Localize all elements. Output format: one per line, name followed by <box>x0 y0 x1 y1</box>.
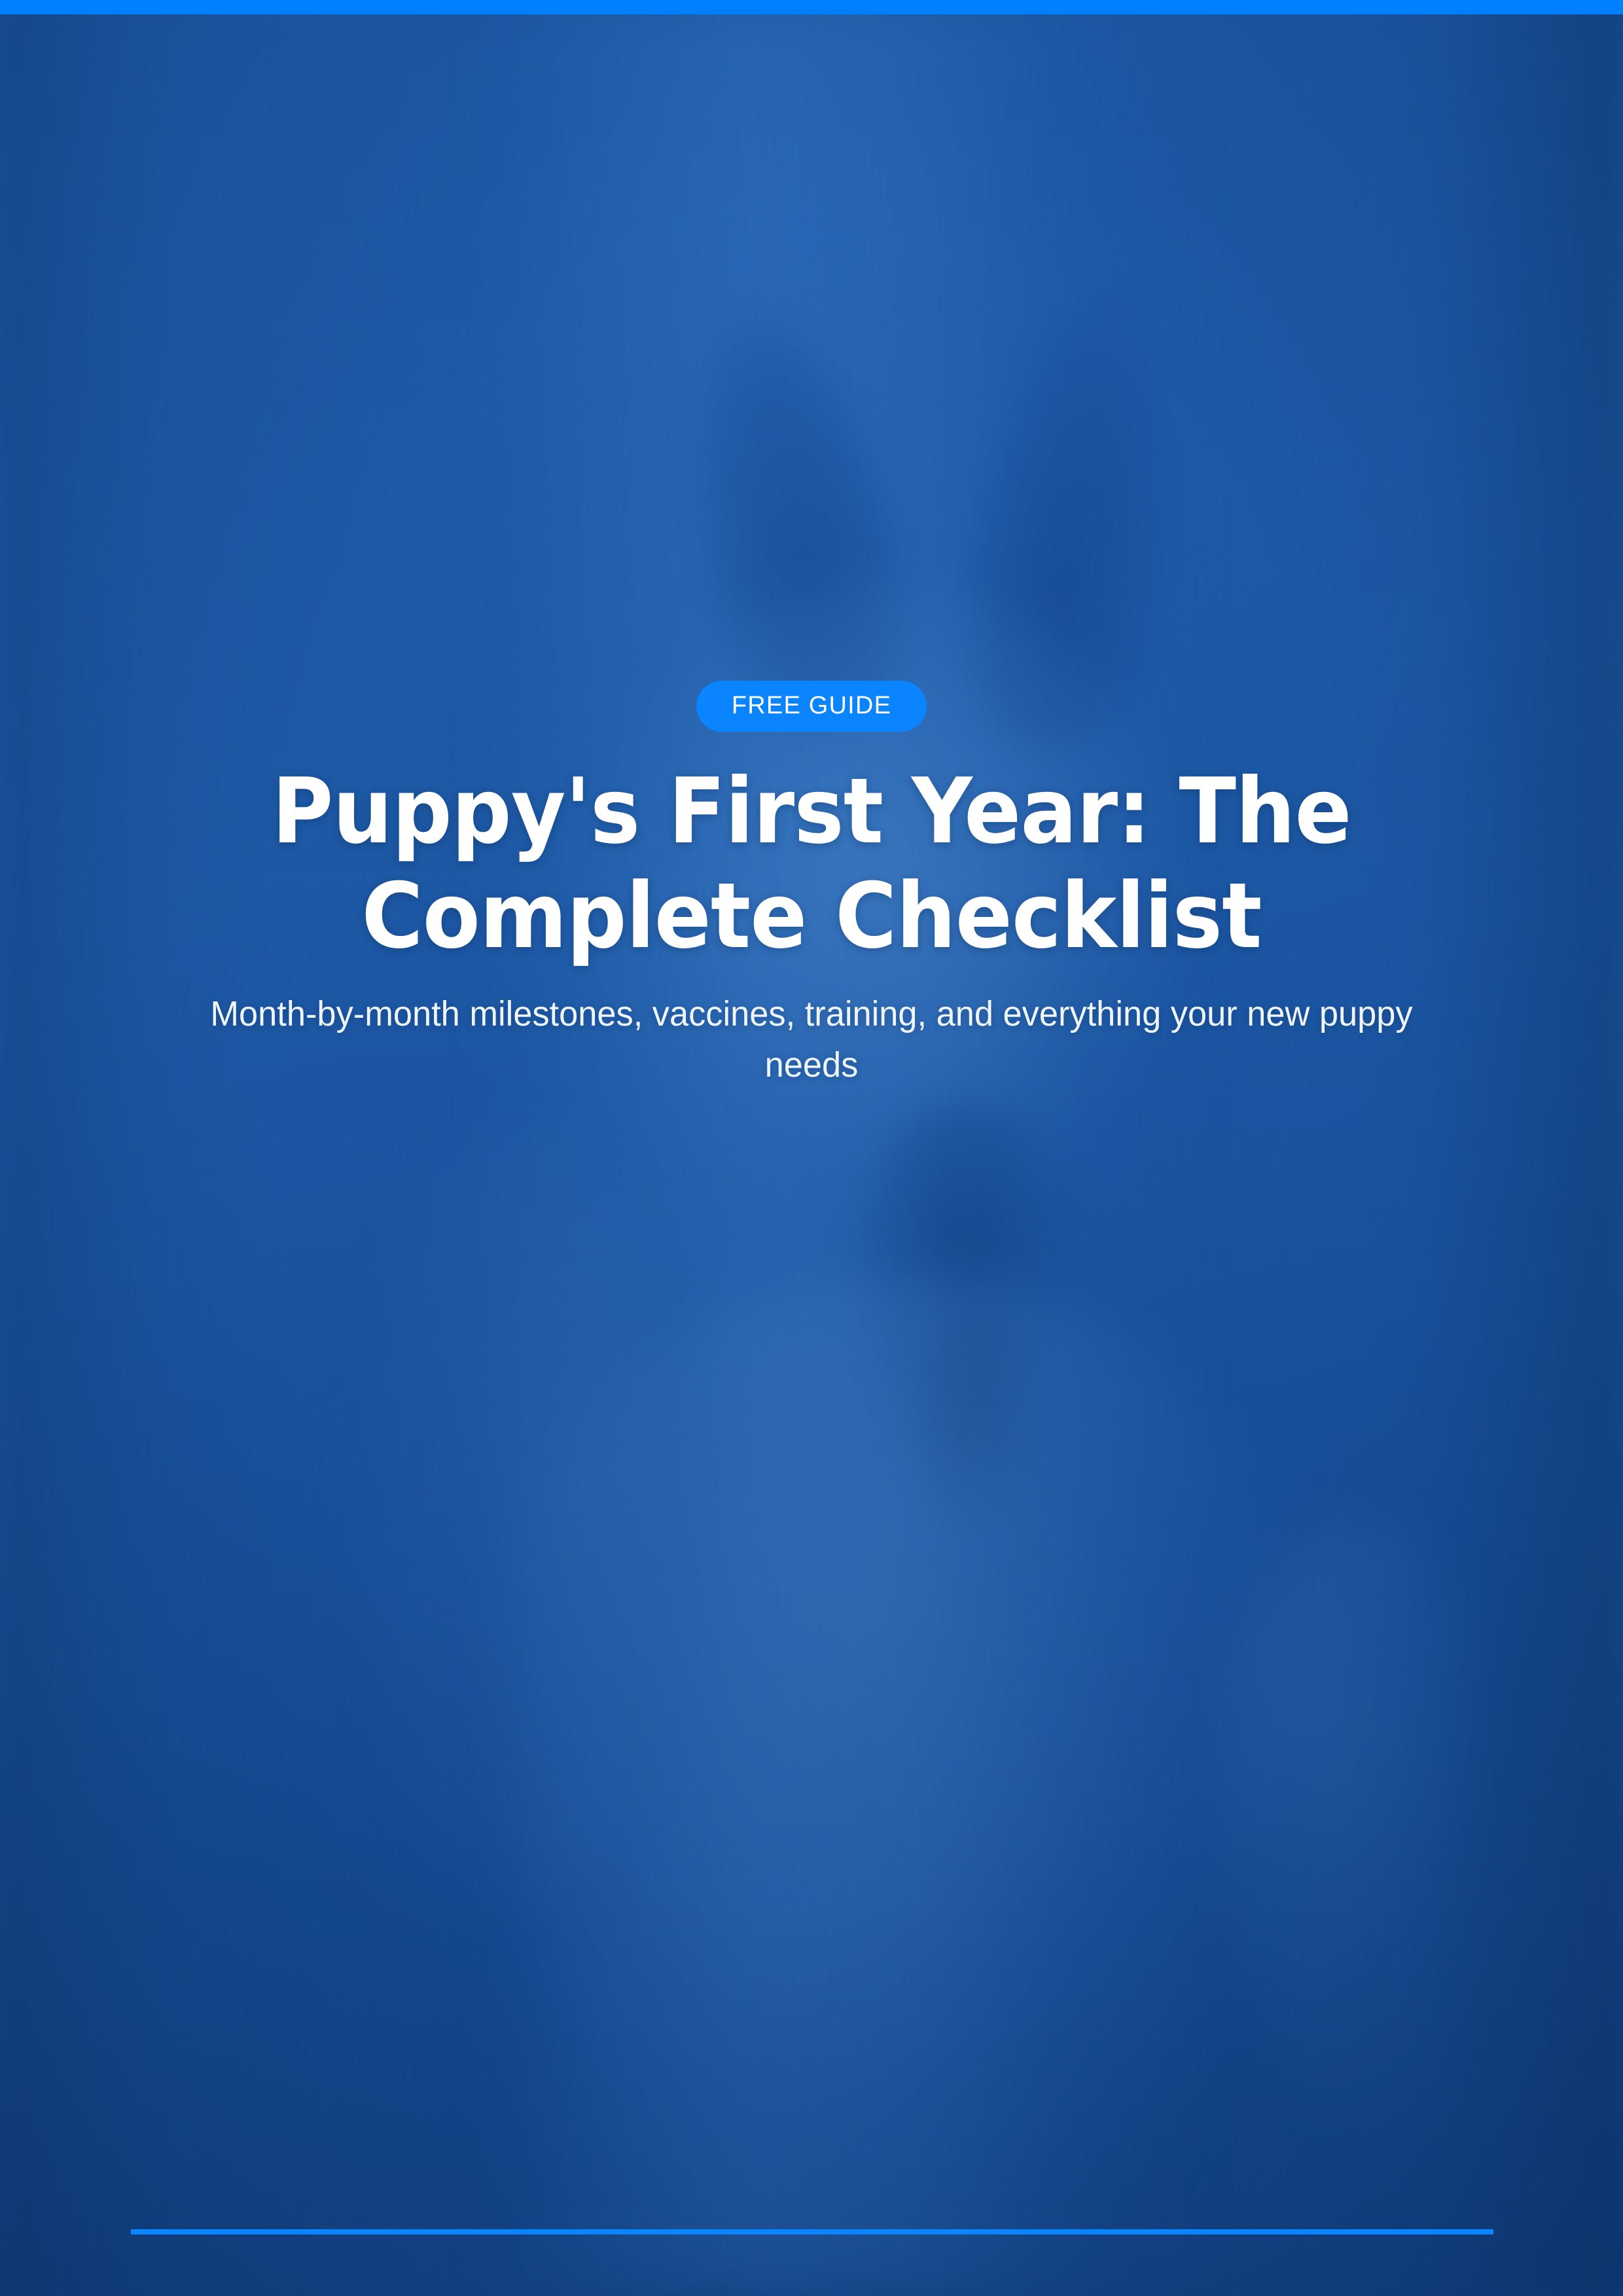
hero-section: FREE GUIDE Puppy's First Year: The Compl… <box>0 681 1623 1091</box>
cover-page: FREE GUIDE Puppy's First Year: The Compl… <box>0 0 1623 2296</box>
free-guide-badge: FREE GUIDE <box>696 681 927 732</box>
page-title: Puppy's First Year: The Complete Checkli… <box>160 759 1463 969</box>
bottom-accent-rule <box>131 2229 1493 2234</box>
background-photo <box>0 0 1623 2296</box>
vignette-overlay <box>0 0 1623 2296</box>
page-subtitle: Month-by-month milestones, vaccines, tra… <box>209 988 1415 1091</box>
top-accent-bar <box>0 0 1623 14</box>
